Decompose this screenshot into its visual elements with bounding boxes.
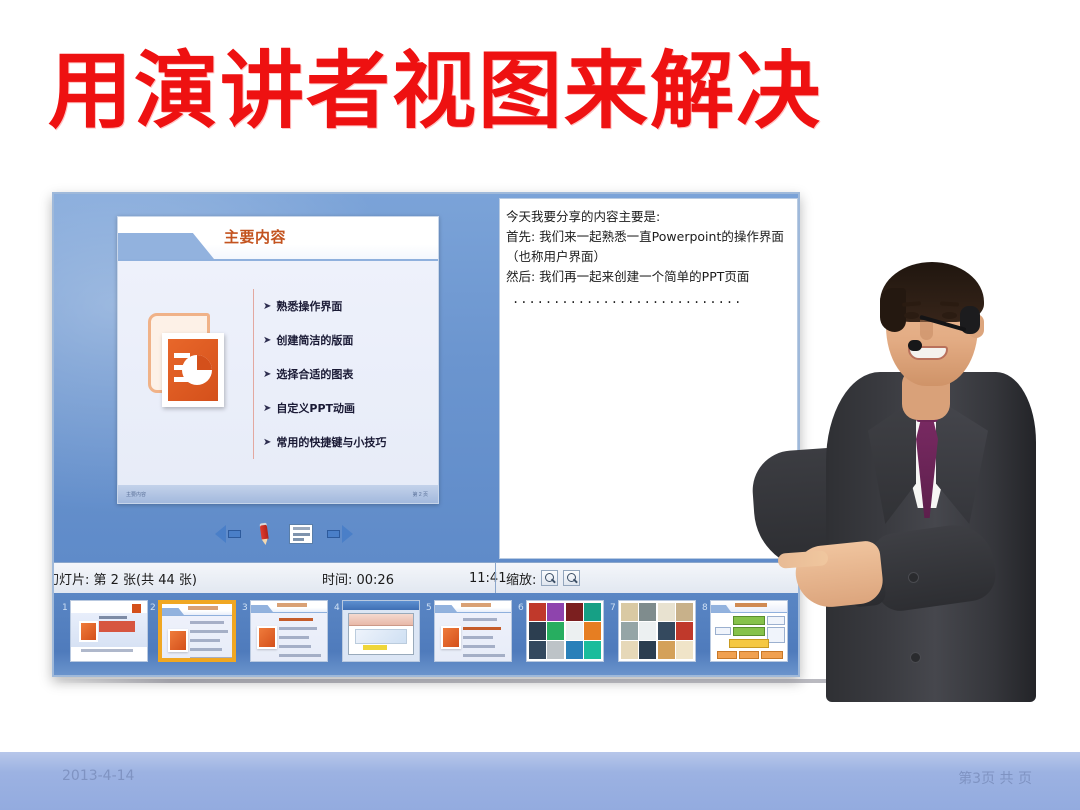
slide-thumbnail-strip[interactable]: 1 2 xyxy=(54,593,798,677)
slide-navigation-controls xyxy=(199,519,369,549)
slide-header-tab-shape xyxy=(118,233,214,259)
slide-footer-left: 主要内容 xyxy=(126,491,146,498)
notes-line: （也称用户界面） xyxy=(506,247,793,267)
slide-preview-title: 主要内容 xyxy=(224,226,286,247)
list-item: ➤ 选择合适的图表 xyxy=(263,357,433,391)
thumbnail-number: 2 xyxy=(150,603,156,613)
slide-preview-header: 主要内容 xyxy=(118,217,438,261)
footer-page-number: 第3页 共 页 xyxy=(958,768,1032,788)
thumbnail-number: 8 xyxy=(702,603,708,613)
presenter-photo xyxy=(790,252,1050,700)
pen-icon[interactable] xyxy=(254,522,277,547)
list-item: ➤ 创建简洁的版面 xyxy=(263,323,433,357)
thumbnail-slide-6[interactable] xyxy=(526,600,604,662)
thumbnail-number: 5 xyxy=(426,603,432,613)
bullet-arrow-icon: ➤ xyxy=(263,437,271,448)
zoom-out-icon[interactable] xyxy=(541,570,558,586)
speaker-notes-text: 今天我要分享的内容主要是: 首先: 我们来一起熟悉一直Powerpoint的操作… xyxy=(500,199,797,309)
thumbnail-slide-3[interactable] xyxy=(250,600,328,662)
bullet-arrow-icon: ➤ xyxy=(263,403,271,414)
thumbnail-number: 7 xyxy=(610,603,616,613)
notes-line: 今天我要分享的内容主要是: xyxy=(506,207,793,227)
zoom-label: 缩放: xyxy=(506,569,536,588)
list-item: ➤ 常用的快捷键与小技巧 xyxy=(263,425,433,459)
bullet-arrow-icon: ➤ xyxy=(263,301,271,312)
page-title: 用演讲者视图来解决 xyxy=(48,36,948,146)
thumbnail-slide-7[interactable] xyxy=(618,600,696,662)
thumbnail-slide-5[interactable] xyxy=(434,600,512,662)
elapsed-time-label: 时间: 00:26 xyxy=(322,569,394,588)
list-item-label: 自定义PPT动画 xyxy=(276,400,355,416)
presenter-status-bar: 幻灯片: 第 2 张(共 44 张) 时间: 00:26 11:41 缩放: xyxy=(54,562,798,594)
slide-footer-right: 第 2 页 xyxy=(412,491,428,498)
arrow-right-icon[interactable] xyxy=(327,524,353,544)
slide-divider-line xyxy=(253,289,254,459)
powerpoint-logo-icon xyxy=(144,313,228,413)
footer-date: 2013-4-14 xyxy=(62,768,134,784)
slide-footer-bar: 2013-4-14 第3页 共 页 xyxy=(0,752,1080,810)
list-item: ➤ 自定义PPT动画 xyxy=(263,391,433,425)
arrow-left-icon[interactable] xyxy=(215,524,241,544)
notes-dotted-line: ............................ xyxy=(512,289,793,309)
thumbnail-number: 3 xyxy=(242,603,248,613)
notes-line: 然后: 我们再一起来创建一个简单的PPT页面 xyxy=(506,267,793,287)
list-item: ➤ 熟悉操作界面 xyxy=(263,289,433,323)
thumbnail-number: 1 xyxy=(62,603,68,613)
thumbnail-slide-2[interactable] xyxy=(158,600,236,662)
thumbnail-slide-4[interactable] xyxy=(342,600,420,662)
zoom-in-icon[interactable] xyxy=(563,570,580,586)
list-item-label: 选择合适的图表 xyxy=(276,366,353,382)
thumbnail-number: 4 xyxy=(334,603,340,613)
menu-icon[interactable] xyxy=(289,524,313,544)
slide-counter-label: 幻灯片: 第 2 张(共 44 张) xyxy=(52,569,197,588)
list-item-label: 创建简洁的版面 xyxy=(276,332,353,348)
bullet-arrow-icon: ➤ xyxy=(263,335,271,346)
slide-preview-footer: 主要内容 第 2 页 xyxy=(118,485,438,504)
presenter-view-window: 主要内容 xyxy=(52,192,800,677)
bullet-arrow-icon: ➤ xyxy=(263,369,271,380)
clock-label: 11:41 xyxy=(469,571,506,586)
zoom-controls: 缩放: xyxy=(506,569,580,588)
thumbnail-number: 6 xyxy=(518,603,524,613)
status-divider xyxy=(495,563,496,593)
thumbnail-slide-1[interactable] xyxy=(70,600,148,662)
list-item-label: 熟悉操作界面 xyxy=(276,298,342,314)
notes-line: 首先: 我们来一起熟悉一直Powerpoint的操作界面 xyxy=(506,227,793,247)
slide-bullet-list: ➤ 熟悉操作界面 ➤ 创建简洁的版面 ➤ 选择合适的图表 ➤ 自定义PPT动画 xyxy=(263,289,433,459)
slide-preview-body: ➤ 熟悉操作界面 ➤ 创建简洁的版面 ➤ 选择合适的图表 ➤ 自定义PPT动画 xyxy=(118,261,438,485)
presenter-view-upper-panel: 主要内容 xyxy=(54,194,798,562)
thumbnail-slide-8[interactable] xyxy=(710,600,788,662)
list-item-label: 常用的快捷键与小技巧 xyxy=(276,434,386,450)
slide-preview[interactable]: 主要内容 xyxy=(117,216,439,504)
